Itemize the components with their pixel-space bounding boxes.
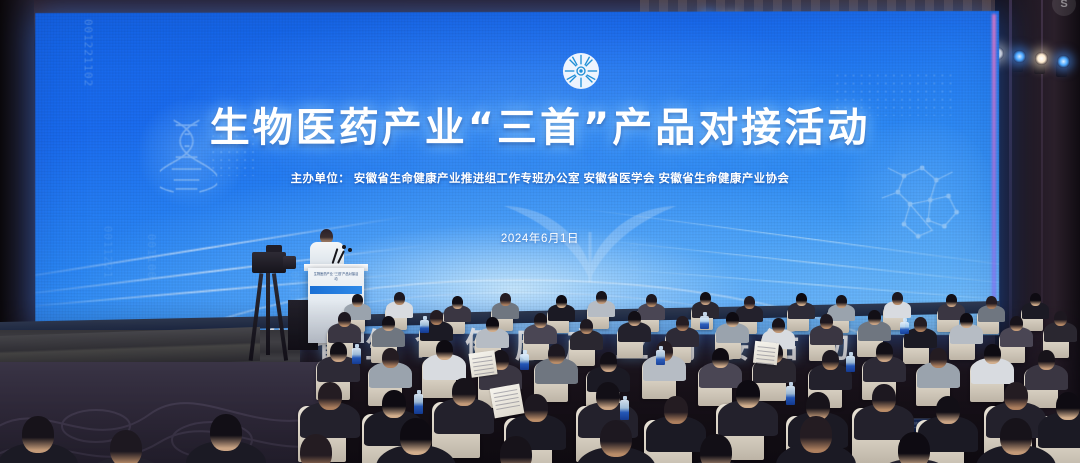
audience-head	[930, 348, 947, 368]
audience-head	[772, 318, 785, 333]
audience-head	[872, 384, 896, 412]
audience-head	[914, 317, 927, 332]
audience-head	[836, 295, 847, 308]
audience-head	[500, 293, 511, 306]
audience-head	[736, 380, 760, 408]
audience-head	[600, 352, 617, 372]
audience-head	[556, 295, 567, 308]
audience-head	[524, 394, 548, 422]
binary-decor-1: 001221102	[83, 19, 94, 87]
paper-text-line	[757, 354, 775, 357]
water-bottle	[352, 348, 361, 364]
audience-head	[300, 434, 332, 463]
audience-head	[868, 310, 881, 325]
event-date: 2024年6月1日	[0, 230, 1080, 246]
water-bottle	[700, 316, 709, 329]
paper-text-line	[474, 372, 494, 376]
audience-head	[820, 314, 833, 329]
audience-head	[318, 382, 342, 410]
event-main-title: 生物医药产业“三首”产品对接活动	[0, 95, 1080, 153]
water-bottle	[846, 356, 855, 372]
audience-head	[984, 344, 1001, 364]
audience-head	[876, 342, 893, 362]
water-bottle	[656, 350, 665, 365]
audience-head	[744, 296, 755, 309]
paper-text-line	[474, 368, 494, 372]
audience-head	[796, 293, 807, 306]
paper-text-line	[473, 364, 493, 368]
conference-photo-scene: 001221102 001100 0011221 100110 011002	[0, 0, 1080, 463]
audience-head	[400, 418, 432, 455]
audience-head	[22, 416, 54, 453]
audience-head	[700, 292, 711, 305]
water-bottle	[414, 394, 423, 414]
video-camera-body	[252, 252, 286, 273]
audience-head	[534, 313, 547, 328]
printed-program	[753, 341, 779, 365]
audience-head	[352, 294, 363, 307]
stage-light	[1057, 55, 1070, 68]
audience-head	[1056, 392, 1080, 420]
audience-head	[338, 312, 351, 327]
audience-head	[330, 342, 347, 362]
audience-head	[110, 430, 142, 463]
microphone-head-2	[348, 248, 352, 252]
audience-head	[726, 312, 739, 327]
water-bottle	[520, 354, 529, 370]
audience-head	[1038, 350, 1055, 370]
paper-text-line	[473, 360, 493, 364]
audience-head	[452, 296, 463, 309]
audience-head	[436, 340, 453, 360]
audience-head	[1030, 293, 1041, 306]
audience-head	[382, 316, 395, 331]
audience-head	[822, 350, 839, 370]
audience-head	[596, 382, 620, 410]
audience-head	[700, 434, 732, 463]
audience-head	[430, 310, 443, 325]
paper-text-line	[757, 350, 775, 353]
paper-text-line	[758, 346, 776, 349]
audience-head	[452, 378, 476, 406]
event-emblem-icon	[562, 52, 600, 90]
event-organizers-line: 主办单位： 安徽省生命健康产业推进组工作专班办公室 安徽省医学会 安徽省生命健康…	[0, 170, 1080, 186]
audience-head	[1004, 382, 1028, 410]
audience-head	[986, 296, 997, 309]
audience-head	[960, 313, 973, 328]
audience-head	[1010, 316, 1023, 331]
camera-lens-icon	[283, 256, 296, 269]
audience-head	[936, 396, 960, 424]
printed-program	[490, 384, 525, 419]
water-bottle	[420, 320, 429, 333]
audience-head	[628, 311, 641, 326]
paper-text-line	[496, 405, 520, 410]
audience-area	[0, 286, 1080, 463]
audience-head	[1000, 418, 1032, 455]
audience-head	[898, 432, 930, 463]
audience-head	[500, 436, 532, 463]
audience-head	[646, 294, 657, 307]
microphone-head-1	[342, 245, 346, 249]
water-bottle	[900, 322, 909, 334]
water-bottle	[786, 386, 795, 405]
podium-front-text: 生物医药产业 “三首”产品对接活动	[313, 272, 359, 284]
water-bottle	[620, 400, 629, 420]
audience-head	[548, 344, 565, 364]
audience-head	[600, 420, 632, 457]
audience-head	[580, 319, 593, 334]
audience-head	[1054, 311, 1067, 326]
audience-head	[800, 416, 832, 453]
paper-text-line	[756, 358, 774, 361]
audience-head	[892, 292, 903, 305]
audience-head	[596, 291, 607, 304]
audience-head	[210, 414, 242, 451]
audience-head	[676, 316, 689, 331]
audience-head	[664, 396, 688, 424]
audience-head	[712, 348, 729, 368]
audience-head	[382, 390, 406, 418]
audience-head	[394, 292, 405, 305]
stage-light	[1013, 50, 1026, 63]
audience-head	[946, 294, 957, 307]
paper-text-line	[472, 356, 492, 360]
printed-program	[468, 350, 497, 377]
audience-head	[486, 317, 499, 332]
audience-head	[382, 348, 399, 368]
